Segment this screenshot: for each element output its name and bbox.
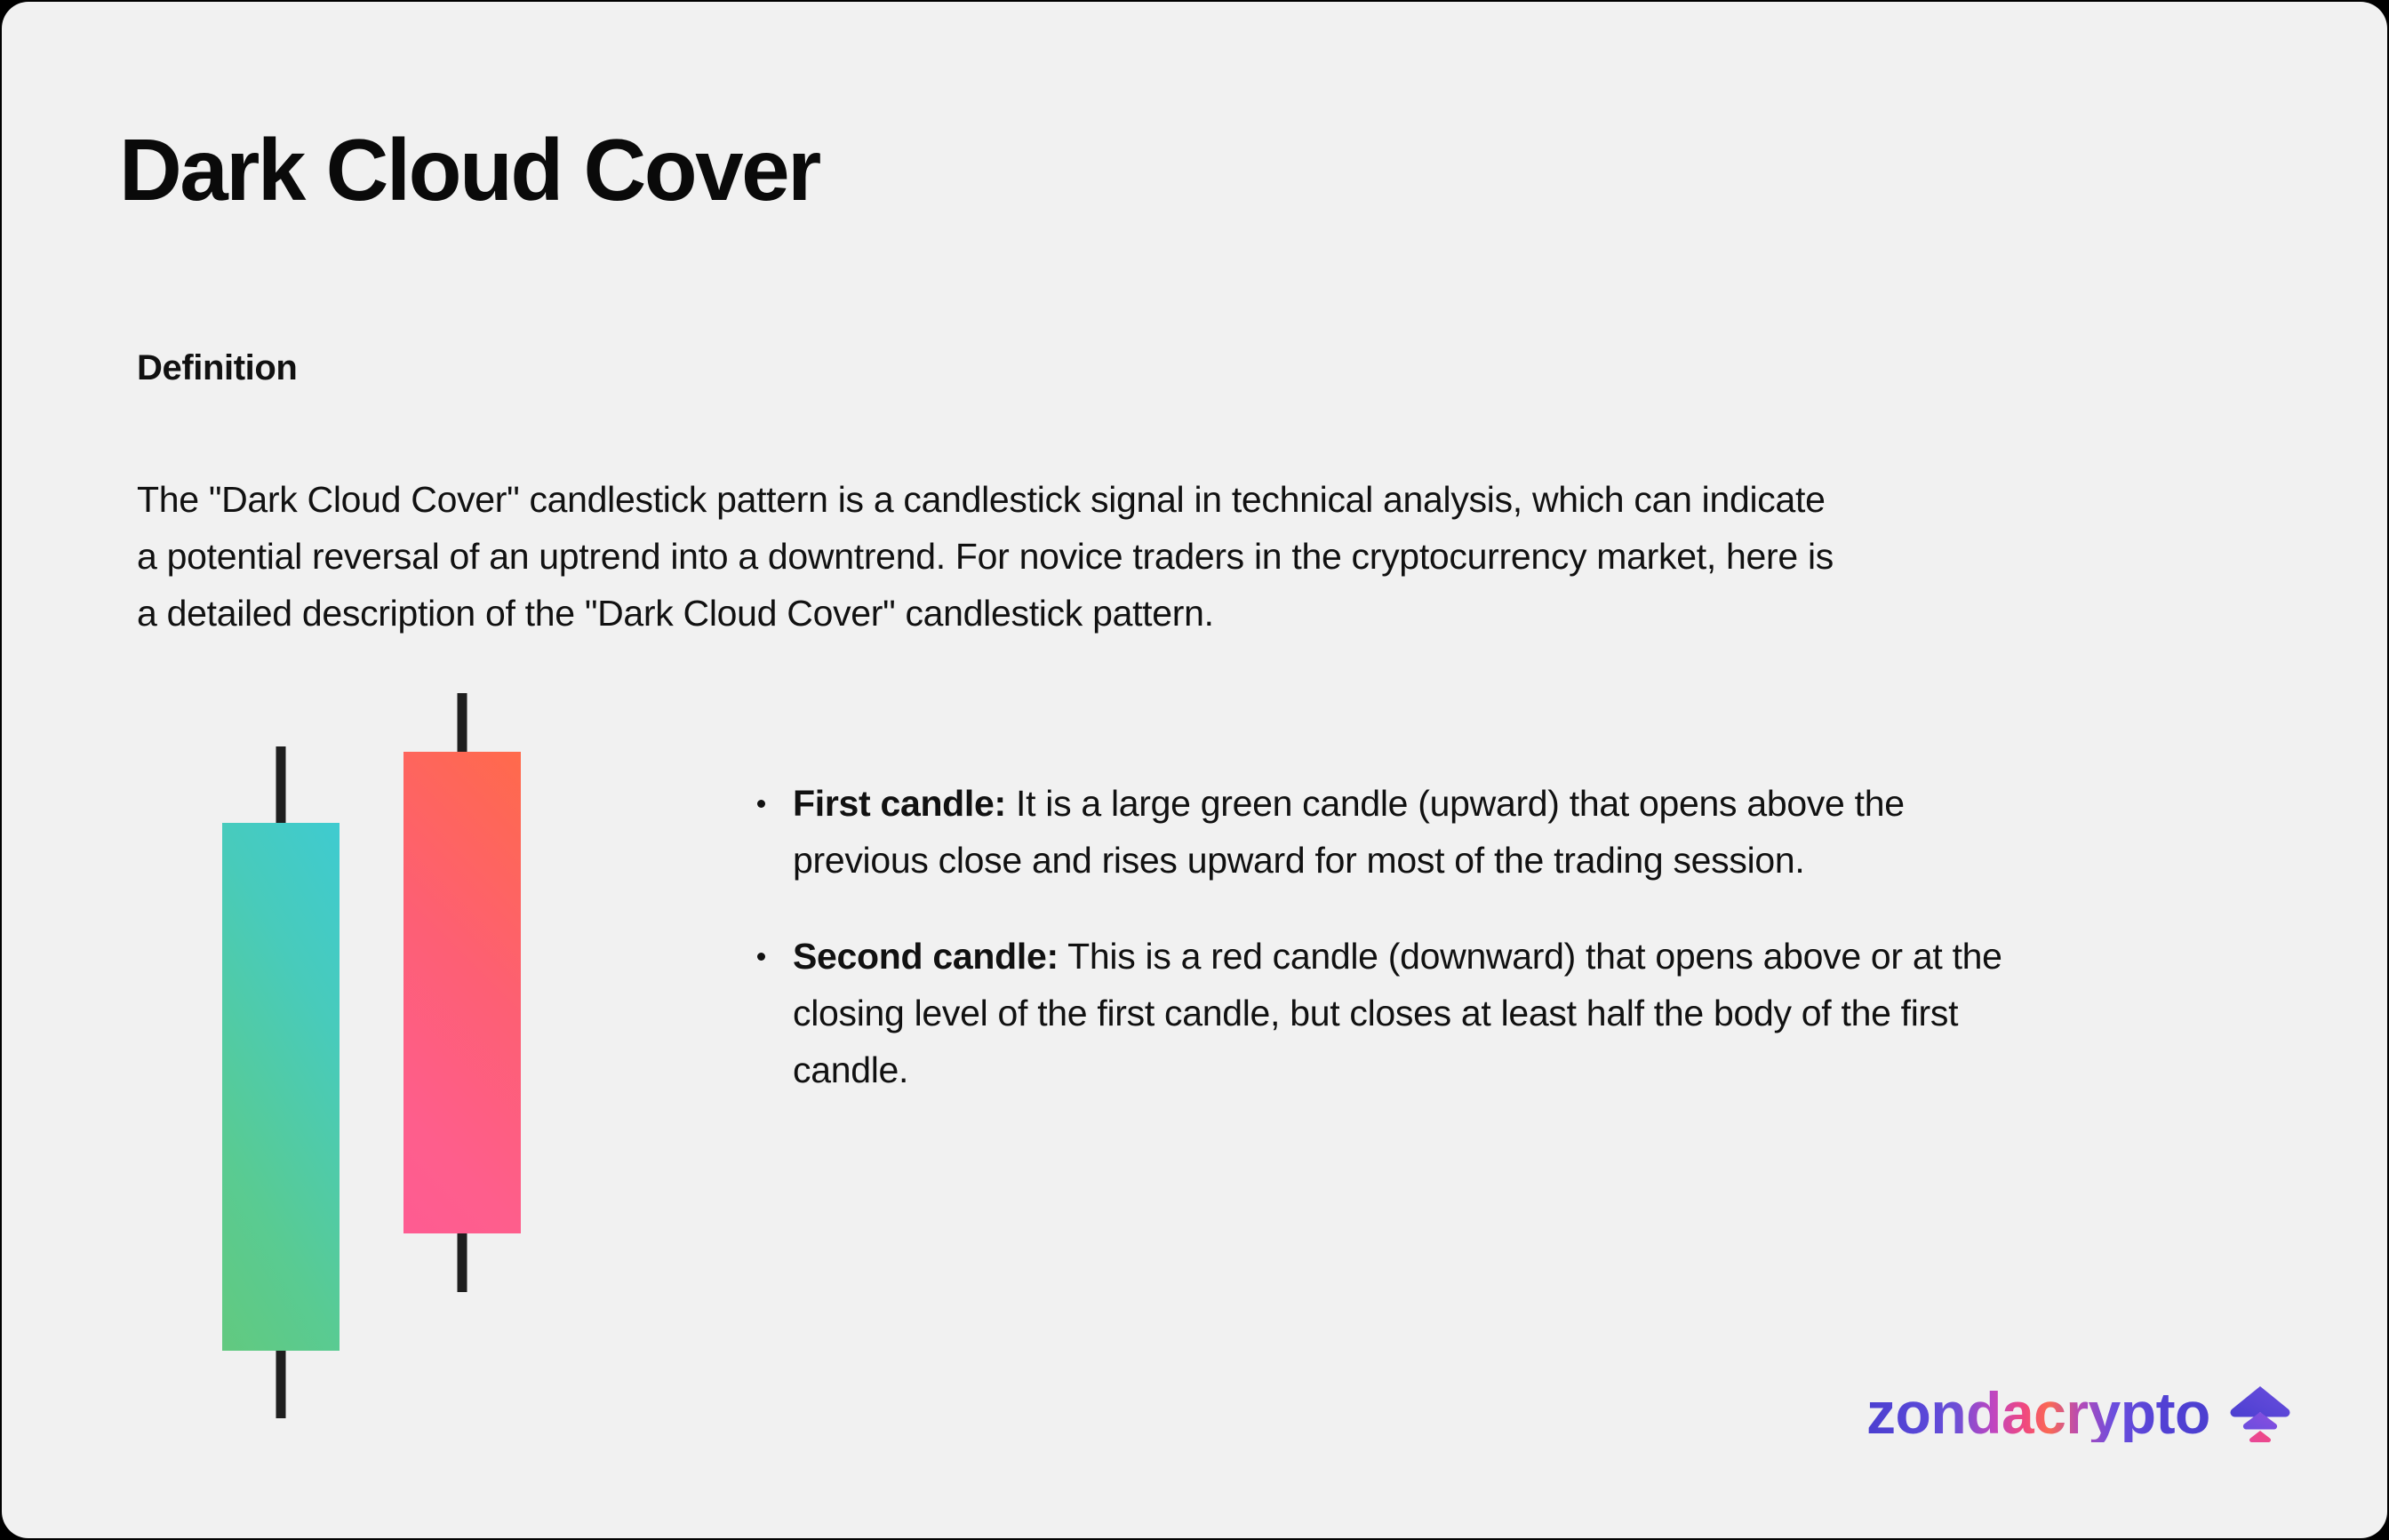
list-item-line: candle. (793, 1041, 2206, 1098)
candlestick-chart (2, 2, 713, 1538)
list-item-line: closing level of the first candle, but c… (793, 985, 2206, 1041)
content-card: Dark Cloud Cover Definition The "Dark Cl… (2, 2, 2387, 1538)
candle-body (403, 752, 521, 1233)
list-item-line: First candle: It is a large green candle… (793, 775, 2206, 832)
candle-lower-wick (458, 1233, 467, 1292)
list-item-line: Second candle: This is a red candle (dow… (793, 928, 2206, 985)
candle-lower-wick (276, 1351, 286, 1418)
list-item-text: It is a large green candle (upward) that… (1006, 783, 1905, 824)
candle-upper-wick (458, 693, 467, 752)
stacked-chevrons-icon (2226, 1379, 2294, 1447)
list-item-line: previous close and rises upward for most… (793, 832, 2206, 889)
candle-description-list: First candle: It is a large green candle… (748, 775, 2206, 1137)
list-item-lead: Second candle: (793, 936, 1059, 977)
candle-body (222, 823, 340, 1351)
list-item-lead: First candle: (793, 783, 1006, 824)
bullet-dot-icon (757, 953, 765, 961)
candle-first-bullish (222, 2, 340, 1538)
logo-wordmark: zondacrypto (1866, 1384, 2210, 1442)
bullet-dot-icon (757, 800, 765, 808)
candle-upper-wick (276, 746, 286, 823)
list-item: First candle: It is a large green candle… (748, 775, 2206, 889)
candle-second-bearish (403, 2, 521, 1538)
list-item: Second candle: This is a red candle (dow… (748, 928, 2206, 1098)
list-item-text: This is a red candle (downward) that ope… (1059, 936, 2002, 977)
zondacrypto-logo[interactable]: zondacrypto (1866, 1377, 2294, 1448)
